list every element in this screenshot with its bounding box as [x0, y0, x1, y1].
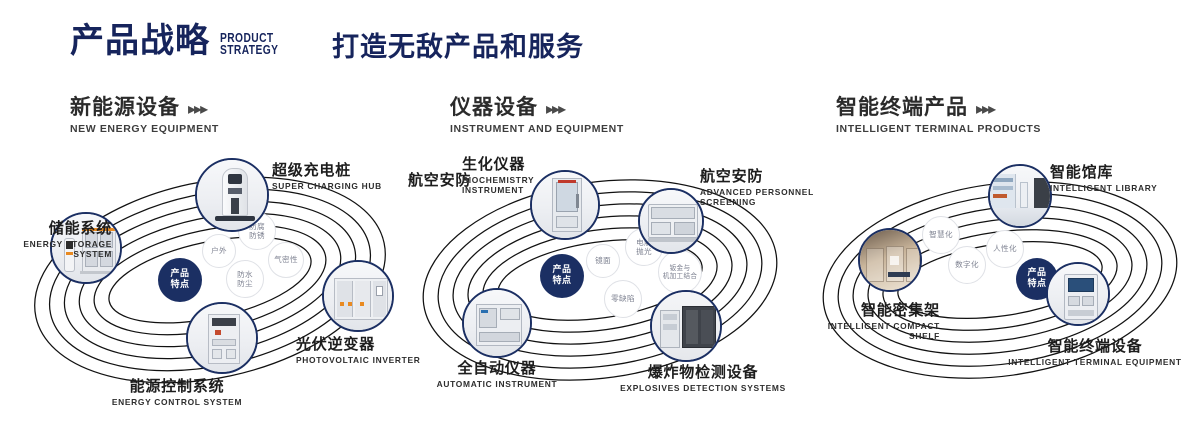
- node-intelligent-compact-shelf[interactable]: [858, 228, 922, 292]
- feature-bubble-intelligent: 智慧化: [922, 216, 960, 254]
- section-title-en: INSTRUMENT AND EQUIPMENT: [450, 123, 624, 135]
- cluster-new-energy: 产品特点 户外 防腐防锈 防水防尘 气密性: [10, 150, 410, 410]
- feature-bubble-waterproof: 防水防尘: [226, 260, 264, 298]
- node-photovoltaic-inverter[interactable]: [322, 260, 394, 332]
- node-energy-control-system[interactable]: [186, 302, 258, 374]
- chevron-right-icon: ▸▸▸: [546, 99, 564, 118]
- section-title-new-energy: 新能源设备▸▸▸ NEW ENERGY EQUIPMENT: [70, 95, 219, 135]
- node-label-en: INTELLIGENT TERMINAL EQUIPMENT: [1000, 357, 1190, 368]
- core-label-line1: 产品: [170, 269, 189, 279]
- node-label-cn: 储能系统: [2, 220, 112, 237]
- node-label-en: ENERGY STORAGE SYSTEM: [2, 239, 112, 260]
- intelligent-terminal-equipment-icon: [1048, 264, 1108, 324]
- intelligent-compact-shelf-icon: [860, 230, 920, 290]
- node-label-cn: 全自动仪器: [422, 360, 572, 377]
- chevron-right-icon: ▸▸▸: [188, 99, 206, 118]
- feature-bubble-zero-defect: 零缺陷: [604, 280, 642, 318]
- bubble-line1: 气密性: [274, 255, 298, 264]
- bubble-line1: 镜面: [595, 256, 611, 265]
- core-label-line1: 产品: [552, 265, 571, 275]
- node-intelligent-library[interactable]: [988, 164, 1052, 228]
- explosives-detection-icon: [652, 292, 720, 360]
- node-label-cn: 智能密集架: [800, 302, 940, 319]
- intelligent-library-icon: [990, 166, 1050, 226]
- brand-title-cn: 产品战略: [70, 24, 210, 58]
- node-automatic-instrument[interactable]: [462, 288, 532, 358]
- automatic-instrument-icon: [464, 290, 530, 356]
- photovoltaic-inverter-icon: [324, 262, 392, 330]
- chevron-right-icon: ▸▸▸: [976, 99, 994, 118]
- node-label-biochemistry-instrument: 生化仪器 BIOCHEMISTRY INSTRUMENT: [462, 156, 572, 196]
- node-label-en: INTELLIGENT COMPACT SHELF: [800, 321, 940, 342]
- node-label-en: AUTOMATIC INSTRUMENT: [422, 379, 572, 390]
- feature-bubble-airtight: 气密性: [268, 242, 304, 278]
- node-label-automatic-instrument: 全自动仪器 AUTOMATIC INSTRUMENT: [422, 360, 572, 389]
- bubble-line1: 智慧化: [929, 230, 953, 239]
- node-intelligent-terminal-equipment[interactable]: [1046, 262, 1110, 326]
- bubble-line1: 户外: [211, 246, 227, 255]
- section-title-cn: 仪器设备▸▸▸: [450, 95, 624, 119]
- node-label-en: BIOCHEMISTRY INSTRUMENT: [462, 175, 572, 196]
- bubble-line2: 机加工结合: [663, 272, 697, 280]
- super-charging-hub-icon: [197, 160, 267, 230]
- core-label-line1: 产品: [1027, 268, 1046, 278]
- bubble-line1: 人性化: [993, 244, 1017, 253]
- section-title-en: NEW ENERGY EQUIPMENT: [70, 123, 219, 135]
- node-label-cn: 爆炸物检测设备: [618, 364, 788, 381]
- bubble-line1: 钣金与: [670, 264, 691, 272]
- bubble-line1: 数字化: [955, 260, 979, 269]
- bubble-line2: 防锈: [249, 231, 265, 240]
- node-label-cn: 智能终端设备: [1000, 338, 1190, 355]
- section-title-text: 智能终端产品: [836, 95, 968, 119]
- node-label-energy-storage-system: 储能系统 ENERGY STORAGE SYSTEM: [2, 220, 112, 260]
- feature-bubble-humanized: 人性化: [986, 230, 1024, 268]
- brand-en-line2: STRATEGY: [220, 44, 278, 56]
- feature-core-bubble: 产品特点: [158, 258, 202, 302]
- bubble-line2: 防尘: [237, 279, 253, 288]
- section-title-text: 仪器设备: [450, 95, 538, 119]
- advanced-personnel-screening-icon: [640, 190, 702, 252]
- node-label-cn: 能源控制系统: [82, 378, 272, 395]
- node-label-intelligent-terminal-equipment: 智能终端设备 INTELLIGENT TERMINAL EQUIPMENT: [1000, 338, 1190, 367]
- feature-bubble-mirror: 镜面: [586, 244, 620, 278]
- node-label-en: EXPLOSIVES DETECTION SYSTEMS: [618, 383, 788, 394]
- section-title-text: 新能源设备: [70, 95, 180, 119]
- node-label-cn: 生化仪器: [462, 156, 572, 173]
- feature-core-bubble: 产品特点: [540, 254, 584, 298]
- product-strategy-infographic: 产品战略 PRODUCT STRATEGY 打造无敌产品和服务 新能源设备▸▸▸…: [0, 0, 1200, 422]
- section-title-intelligent-terminal: 智能终端产品▸▸▸ INTELLIGENT TERMINAL PRODUCTS: [836, 95, 1041, 135]
- feature-bubble-digital: 数字化: [948, 246, 986, 284]
- node-label-intelligent-library: 智能馆库 INTELLIGENT LIBRARY: [1050, 164, 1190, 193]
- brand-header: 产品战略 PRODUCT STRATEGY: [70, 24, 291, 58]
- core-label-line2: 特点: [170, 280, 189, 290]
- section-title-instrument: 仪器设备▸▸▸ INSTRUMENT AND EQUIPMENT: [450, 95, 624, 135]
- node-label-energy-control-system: 能源控制系统 ENERGY CONTROL SYSTEM: [82, 378, 272, 407]
- node-label-en: INTELLIGENT LIBRARY: [1050, 183, 1190, 194]
- bubble-line1: 防水: [237, 270, 253, 279]
- energy-control-system-icon: [188, 304, 256, 372]
- node-label-en: ENERGY CONTROL SYSTEM: [82, 397, 272, 408]
- node-label-explosives-detection: 爆炸物检测设备 EXPLOSIVES DETECTION SYSTEMS: [618, 364, 788, 393]
- section-title-cn: 智能终端产品▸▸▸: [836, 95, 1041, 119]
- brand-title-en: PRODUCT STRATEGY: [220, 32, 278, 56]
- section-title-en: INTELLIGENT TERMINAL PRODUCTS: [836, 123, 1041, 135]
- feature-bubble-sheetmetal-machining: 钣金与机加工结合: [658, 250, 702, 294]
- node-label-cn: 超级充电桩: [272, 162, 402, 179]
- node-explosives-detection[interactable]: [650, 290, 722, 362]
- section-title-cn: 新能源设备▸▸▸: [70, 95, 219, 119]
- node-super-charging-hub[interactable]: [195, 158, 269, 232]
- node-label-intelligent-compact-shelf: 智能密集架 INTELLIGENT COMPACT SHELF: [800, 302, 940, 342]
- node-advanced-personnel-screening[interactable]: [638, 188, 704, 254]
- cluster-instrument: 产品特点 镜面 电解抛光 钣金与机加工结合 零缺陷 航空安防: [400, 150, 800, 410]
- core-label-line2: 特点: [1027, 279, 1046, 289]
- node-label-en: SUPER CHARGING HUB: [272, 181, 402, 192]
- core-label-line2: 特点: [552, 276, 571, 286]
- node-label-cn: 智能馆库: [1050, 164, 1190, 181]
- feature-bubble-outdoor: 户外: [202, 234, 236, 268]
- bubble-line1: 零缺陷: [611, 294, 635, 303]
- cluster-intelligent-terminal: 智慧化 人性化 数字化 产品特点 智能馆库: [800, 150, 1200, 410]
- headline: 打造无敌产品和服务: [332, 32, 584, 64]
- node-label-super-charging-hub: 超级充电桩 SUPER CHARGING HUB: [272, 162, 402, 191]
